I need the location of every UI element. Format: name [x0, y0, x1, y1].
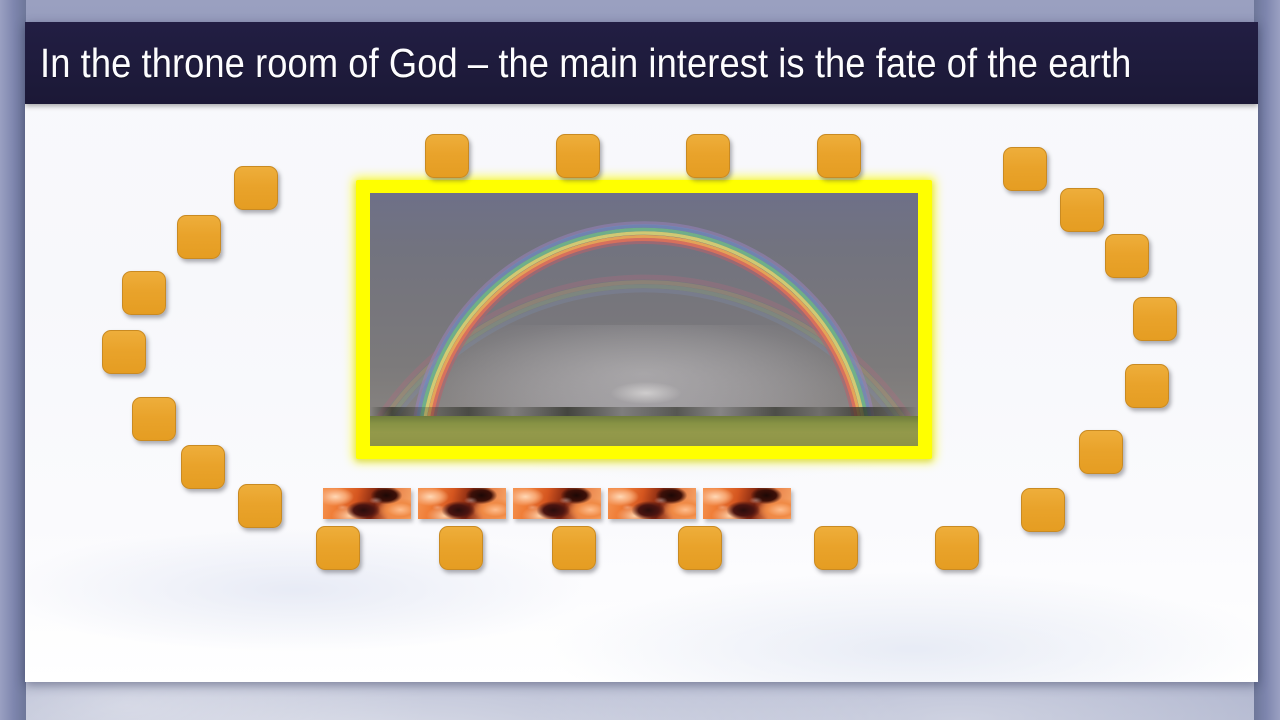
orange-square-marker-bottom-row-1[interactable] [316, 526, 360, 570]
orange-square-marker-left-arc-6[interactable] [181, 445, 225, 489]
page-title: In the throne room of God – the main int… [25, 40, 1131, 87]
frame-edge-left [0, 0, 26, 720]
orange-square-marker-left-arc-3[interactable] [122, 271, 166, 315]
rainbow-photo-frame[interactable] [356, 180, 932, 459]
fire-texture-tile [608, 488, 696, 519]
orange-square-marker-right-arc-5[interactable] [1125, 364, 1169, 408]
fire-texture-tile [703, 488, 791, 519]
orange-square-marker-bottom-row-4[interactable] [678, 526, 722, 570]
orange-square-marker-bottom-row-2[interactable] [439, 526, 483, 570]
orange-square-marker-right-arc-4[interactable] [1133, 297, 1177, 341]
orange-square-marker-bottom-row-3[interactable] [552, 526, 596, 570]
fire-texture-strip[interactable] [323, 488, 791, 519]
orange-square-marker-right-arc-2[interactable] [1060, 188, 1104, 232]
orange-square-marker-left-arc-4[interactable] [102, 330, 146, 374]
orange-square-marker-right-arc-7[interactable] [1021, 488, 1065, 532]
orange-square-marker-left-arc-2[interactable] [177, 215, 221, 259]
orange-square-marker-left-arc-1[interactable] [234, 166, 278, 210]
orange-square-marker-top-row-1[interactable] [425, 134, 469, 178]
fire-texture-tile [513, 488, 601, 519]
slide-root: In the throne room of God – the main int… [0, 0, 1280, 720]
fire-texture-tile [323, 488, 411, 519]
slide-canvas: In the throne room of God – the main int… [25, 22, 1258, 682]
grass-field [370, 416, 918, 446]
orange-square-marker-right-arc-3[interactable] [1105, 234, 1149, 278]
orange-square-marker-left-arc-7[interactable] [238, 484, 282, 528]
double-rainbow-photograph [370, 193, 918, 446]
orange-square-marker-right-arc-1[interactable] [1003, 147, 1047, 191]
orange-square-marker-right-arc-6[interactable] [1079, 430, 1123, 474]
orange-square-marker-bottom-row-5[interactable] [814, 526, 858, 570]
fire-texture-tile [418, 488, 506, 519]
orange-square-marker-top-row-4[interactable] [817, 134, 861, 178]
slide-title-bar: In the throne room of God – the main int… [25, 22, 1258, 104]
orange-square-marker-top-row-2[interactable] [556, 134, 600, 178]
cloud-puff [611, 382, 681, 404]
orange-square-marker-top-row-3[interactable] [686, 134, 730, 178]
orange-square-marker-bottom-row-6[interactable] [935, 526, 979, 570]
orange-square-marker-left-arc-5[interactable] [132, 397, 176, 441]
